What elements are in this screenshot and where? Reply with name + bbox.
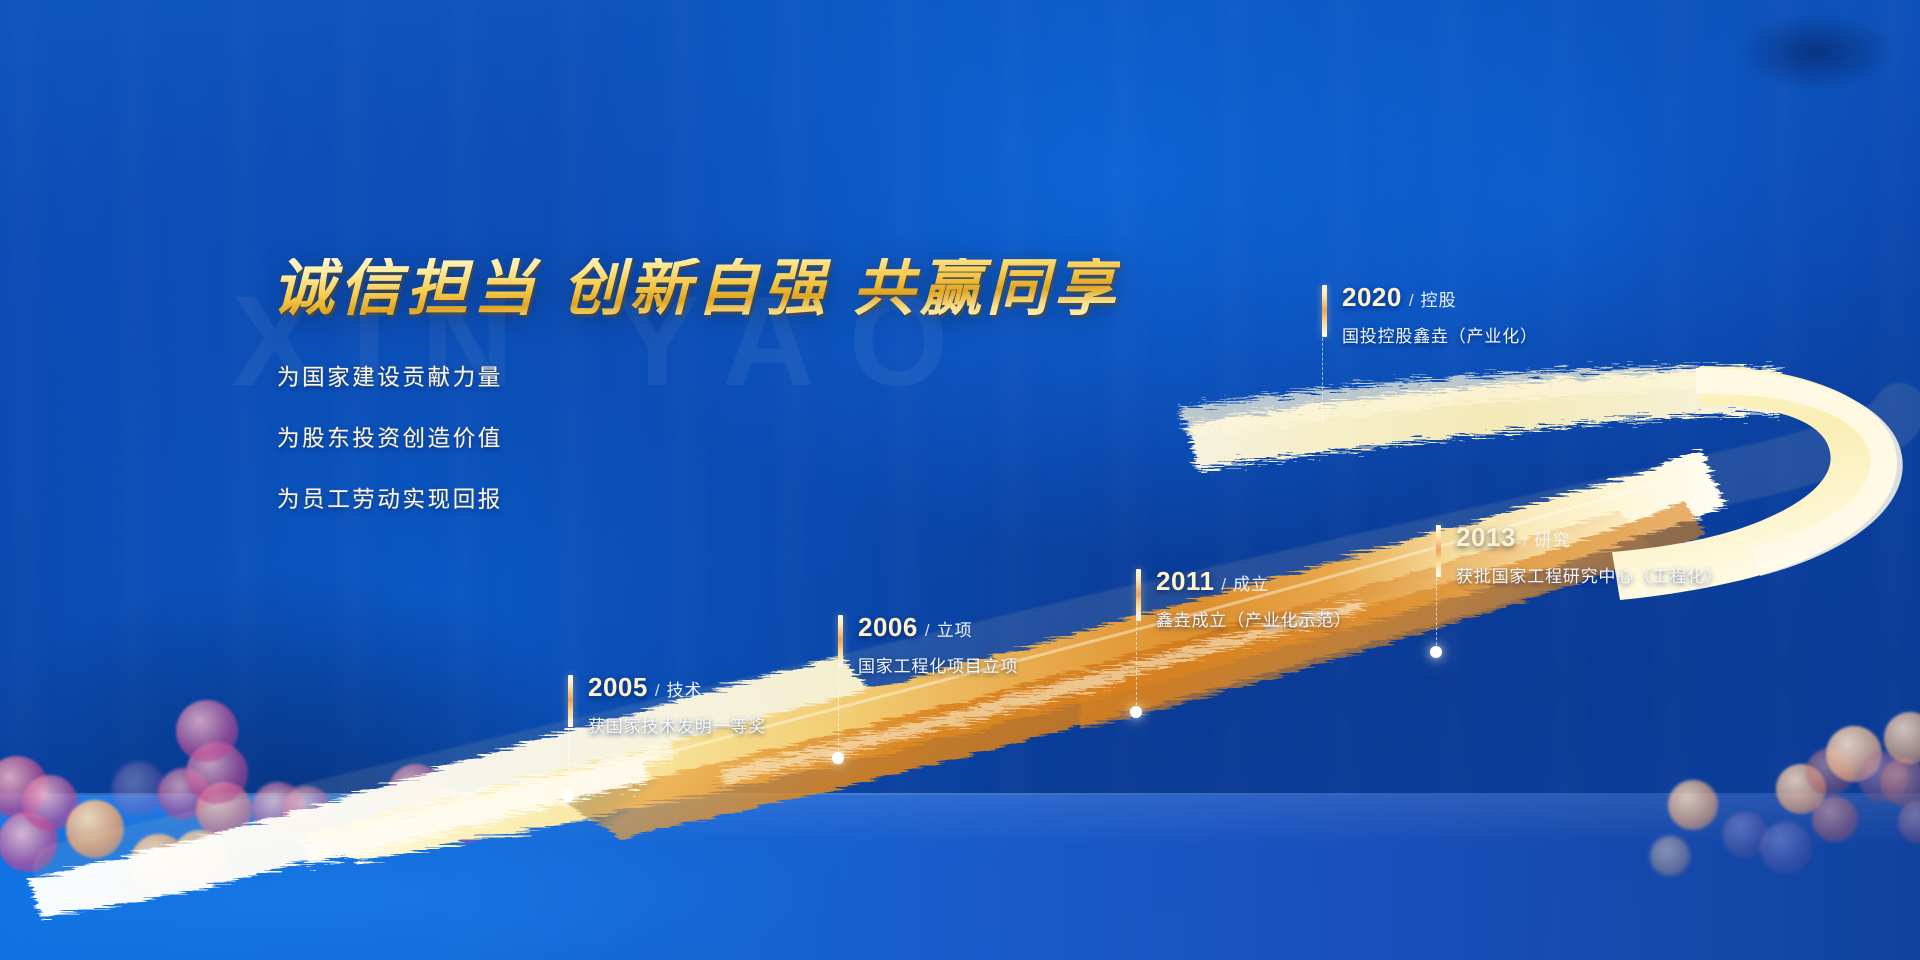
milestone-leader-line-2020 [1322, 338, 1323, 424]
milestone-2011[interactable]: 2011 / 成立 鑫垚成立（产业化示范） [1136, 566, 1352, 631]
milestone-accent-bar [1436, 525, 1441, 577]
milestone-description: 鑫垚成立（产业化示范） [1156, 606, 1352, 631]
milestone-leader-line-2013 [1436, 578, 1437, 650]
milestone-dot-2013 [1430, 646, 1442, 658]
milestone-tag: 控股 [1421, 286, 1457, 311]
milestone-leader-line-2006 [838, 668, 839, 756]
banner-canvas: XIN YAO 诚信担当 创新自强 共赢同享 为国家建设贡献力量 为股东投资创造… [0, 0, 1920, 960]
milestone-accent-bar [1136, 569, 1141, 621]
milestone-year: 2011 [1156, 566, 1214, 597]
milestone-tag: 立项 [937, 616, 973, 641]
milestone-description: 国投控股鑫垚（产业化） [1342, 322, 1538, 347]
slogan-line: 为国家建设贡献力量 [277, 360, 503, 392]
milestone-separator: / [1523, 531, 1528, 551]
milestone-dot-2005 [562, 790, 574, 802]
slogan-list: 为国家建设贡献力量 为股东投资创造价值 为员工劳动实现回报 [277, 360, 503, 543]
milestone-2013[interactable]: 2013 / 研究 获批国家工程研究中心（工程化） [1436, 522, 1723, 587]
milestone-year: 2013 [1456, 522, 1516, 553]
page-title: 诚信担当 创新自强 共赢同享 [272, 258, 1120, 320]
milestone-accent-bar [568, 675, 573, 727]
milestone-description: 获批国家工程研究中心（工程化） [1456, 562, 1723, 587]
milestone-year: 2005 [588, 672, 648, 703]
milestone-description: 国家工程化项目立项 [858, 652, 1018, 677]
milestone-tag: 技术 [667, 676, 703, 701]
milestone-separator: / [655, 681, 660, 701]
milestone-2020[interactable]: 2020 / 控股 国投控股鑫垚（产业化） [1322, 282, 1538, 347]
milestone-dot-2006 [832, 752, 844, 764]
milestone-tag: 研究 [1535, 526, 1571, 551]
milestone-leader-line-2005 [568, 728, 569, 794]
milestone-separator: / [1409, 291, 1414, 311]
milestone-tag: 成立 [1233, 570, 1269, 595]
milestone-accent-bar [838, 615, 843, 667]
milestone-separator: / [1221, 575, 1226, 595]
slogan-line: 为员工劳动实现回报 [277, 482, 503, 514]
slogan-line: 为股东投资创造价值 [277, 421, 503, 453]
milestone-year: 2020 [1342, 282, 1402, 313]
milestone-accent-bar [1322, 285, 1327, 337]
milestone-leader-line-2011 [1136, 622, 1137, 710]
milestone-2005[interactable]: 2005 / 技术 获国家技术发明一等奖 [568, 672, 766, 737]
milestone-year: 2006 [858, 612, 918, 643]
milestone-separator: / [925, 621, 930, 641]
milestone-dot-2011 [1130, 706, 1142, 718]
milestone-description: 获国家技术发明一等奖 [588, 712, 766, 737]
milestone-2006[interactable]: 2006 / 立项 国家工程化项目立项 [838, 612, 1018, 677]
